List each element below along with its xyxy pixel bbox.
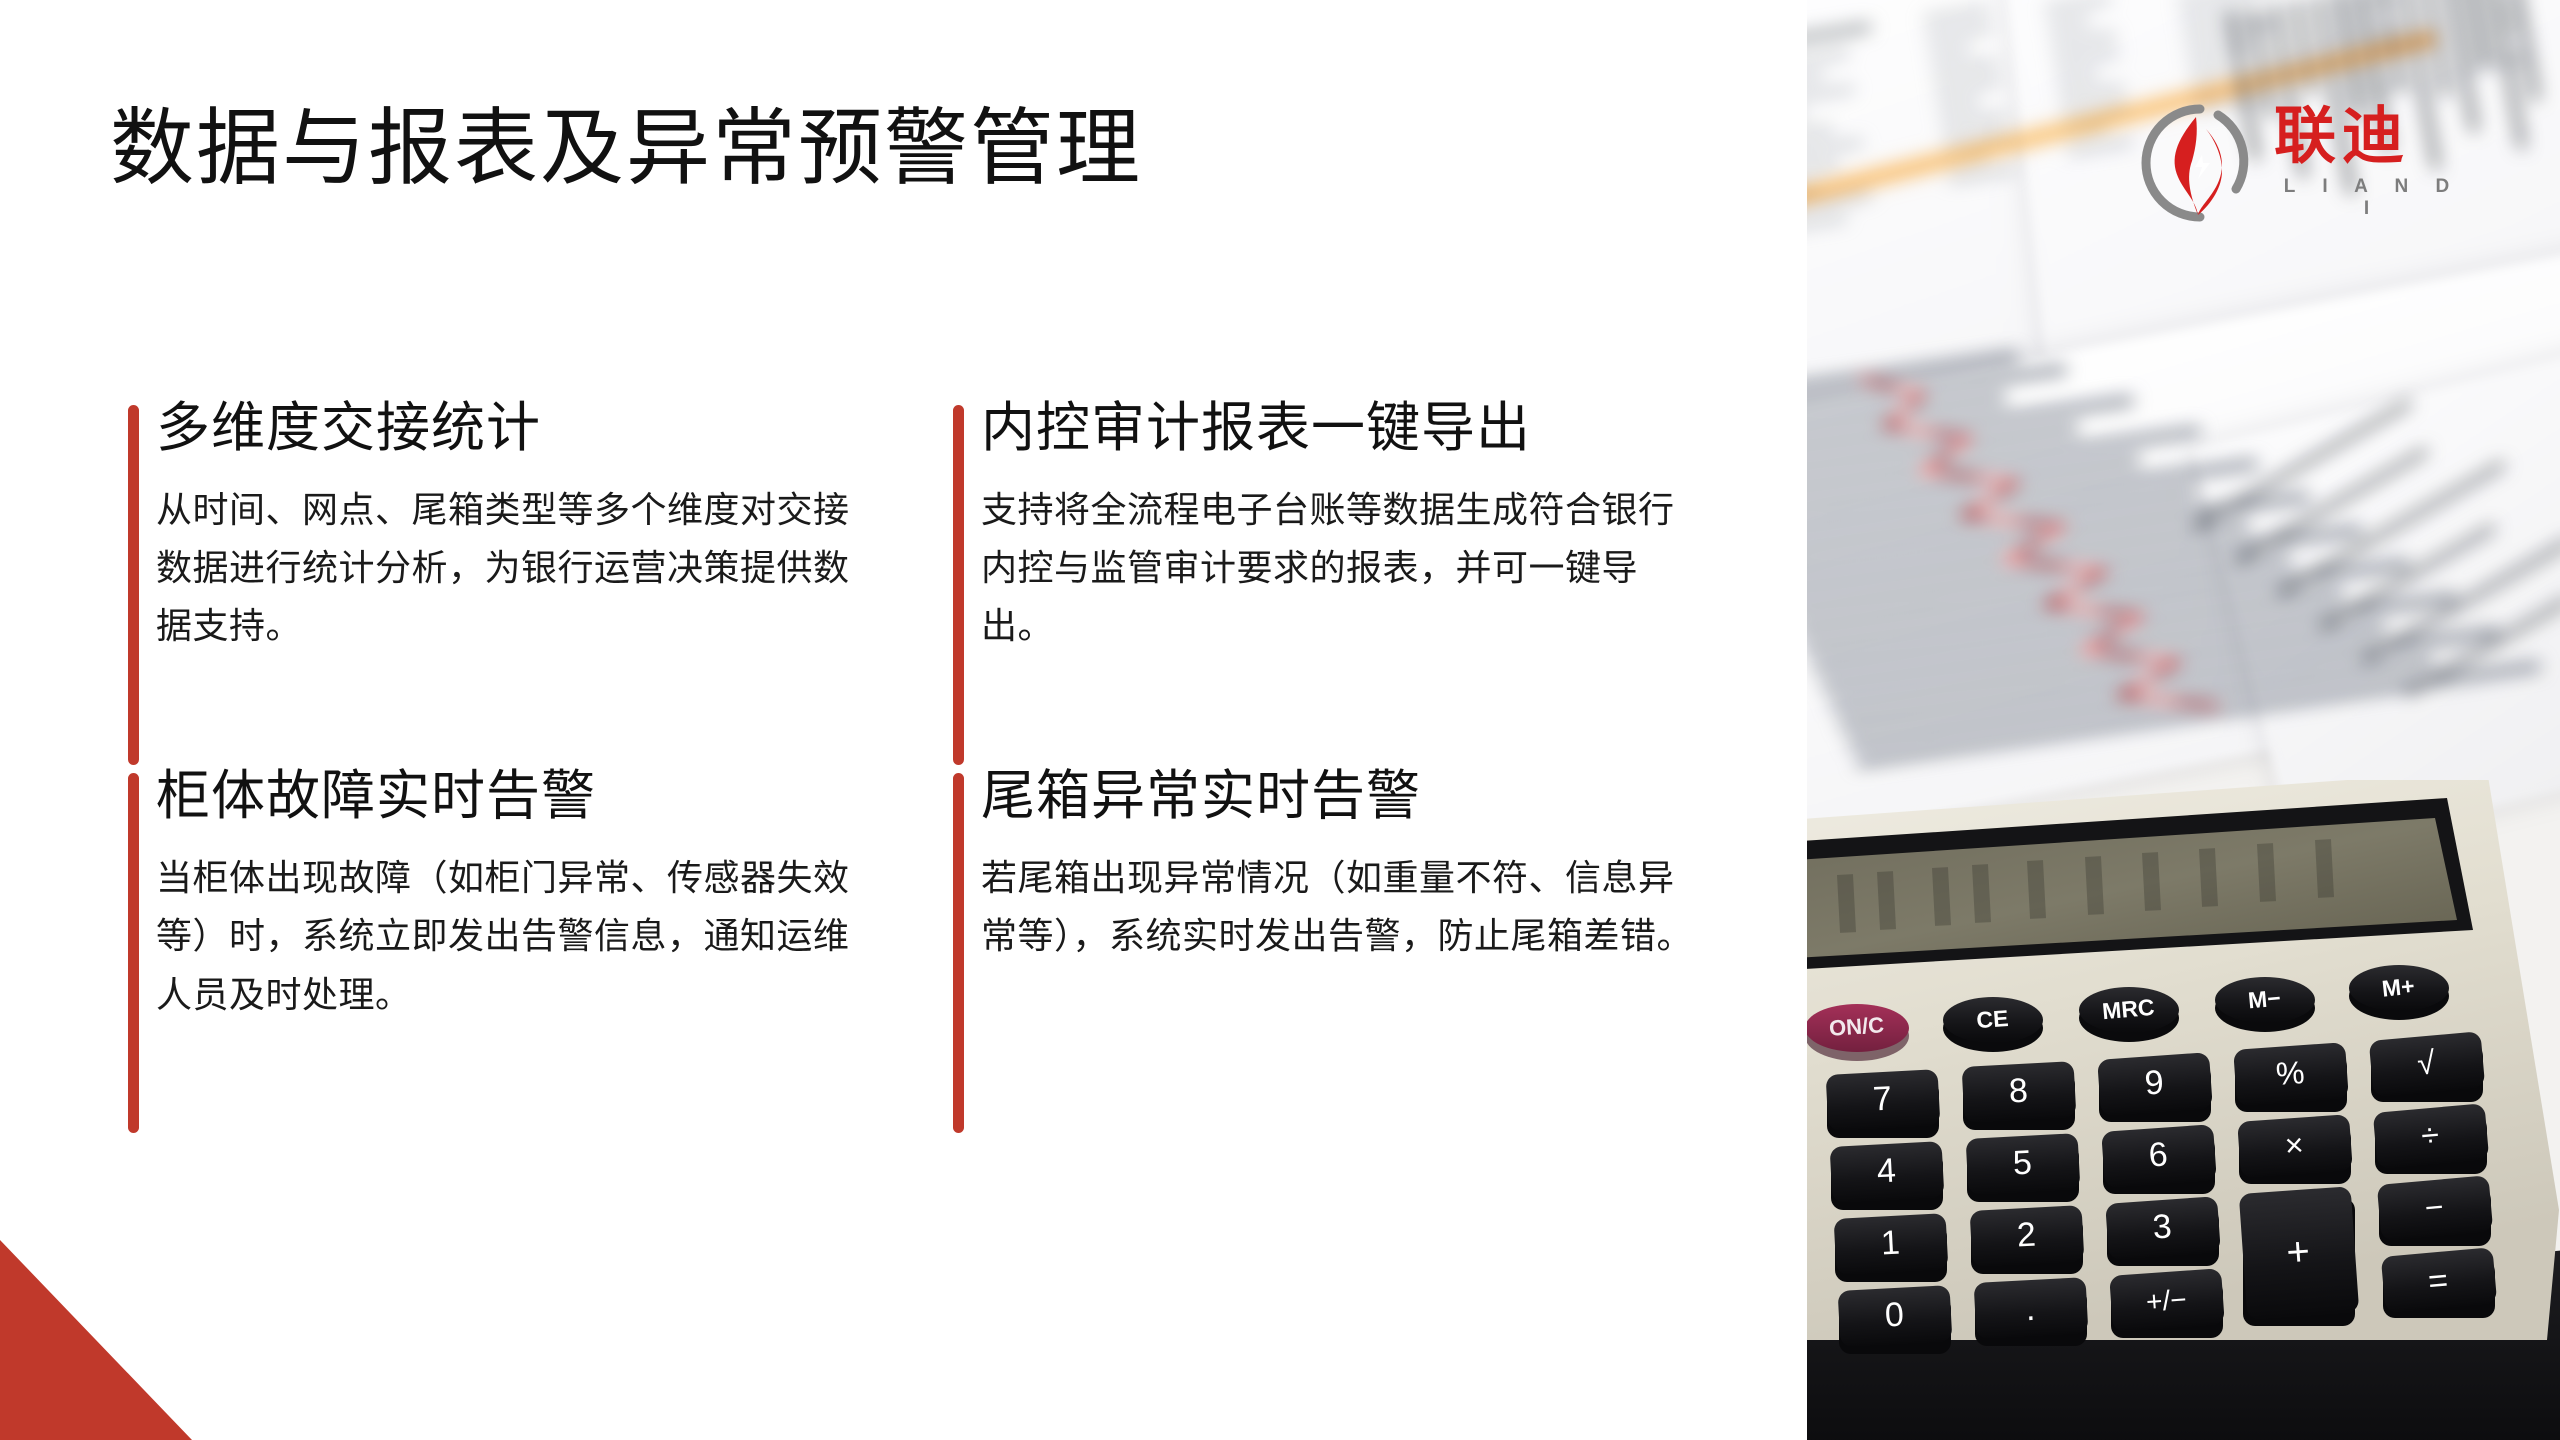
red-line-series <box>1849 325 2263 781</box>
key-on-c[interactable]: ON/C <box>1807 1004 1909 1061</box>
svg-text:MRC: MRC <box>2101 994 2155 1024</box>
svg-text:=: = <box>2426 1261 2449 1301</box>
printed-text-column <box>2045 0 2136 166</box>
brand-logo: 联迪 L I A N D I <box>2140 95 2470 230</box>
svg-text:5: 5 <box>2012 1144 2033 1183</box>
accent-bar-icon <box>953 773 964 1133</box>
card-body: 若尾箱出现异常情况（如重量不符、信息异常等），系统实时发出告警，防止尾箱差错。 <box>981 849 1701 966</box>
key-1[interactable]: 1 <box>1834 1213 1949 1282</box>
logo-name-cn: 联迪 <box>2274 106 2470 168</box>
card-body: 当柜体出现故障（如柜门异常、传感器失效等）时，系统立即发出告警信息，通知运维人员… <box>156 849 876 1024</box>
key-2[interactable]: 2 <box>1970 1205 2085 1274</box>
svg-text:÷: ÷ <box>2420 1116 2441 1153</box>
accent-bar-icon <box>953 405 964 765</box>
key-3[interactable]: 3 <box>2105 1196 2221 1266</box>
svg-text:×: × <box>2284 1126 2305 1163</box>
feature-card-grid: 多维度交接统计 从时间、网点、尾箱类型等多个维度对交接数据进行统计分析，为银行运… <box>110 395 1730 1024</box>
key-9[interactable]: 9 <box>2097 1052 2213 1122</box>
svg-text:√: √ <box>2416 1044 2437 1081</box>
key-multiply[interactable]: × <box>2237 1114 2353 1184</box>
key-ce[interactable]: CE <box>1943 997 2043 1052</box>
svg-text:3: 3 <box>2151 1207 2173 1246</box>
card-heading: 柜体故障实时告警 <box>156 763 905 831</box>
key-mrc[interactable]: MRC <box>2079 987 2179 1042</box>
svg-text:+/−: +/− <box>2145 1284 2188 1318</box>
svg-text:1: 1 <box>1880 1224 1901 1263</box>
feature-card-3[interactable]: 柜体故障实时告警 当柜体出现故障（如柜门异常、传感器失效等）时，系统立即发出告警… <box>110 763 905 1023</box>
card-heading: 内控审计报表一键导出 <box>981 395 1730 463</box>
accent-bar-icon <box>128 773 139 1133</box>
key-memory-minus[interactable]: M− <box>2215 977 2315 1032</box>
svg-text:9: 9 <box>2143 1063 2165 1102</box>
key-decimal-point[interactable]: . <box>1974 1277 2089 1346</box>
svg-text:%: % <box>2275 1054 2306 1092</box>
key-5[interactable]: 5 <box>1966 1133 2081 1202</box>
svg-text:.: . <box>2025 1290 2036 1328</box>
accent-bar-icon <box>128 405 139 765</box>
flame-logo-icon <box>2140 103 2260 223</box>
svg-text:0: 0 <box>1884 1296 1905 1335</box>
slide-root: 数据与报表及异常预警管理 多维度交接统计 从时间、网点、尾箱类型等多个维度对交接… <box>0 0 2560 1440</box>
feature-card-2[interactable]: 内控审计报表一键导出 支持将全流程电子台账等数据生成符合银行内控与监管审计要求的… <box>935 395 1730 655</box>
card-heading: 多维度交接统计 <box>156 395 905 463</box>
key-percent[interactable]: % <box>2233 1042 2349 1112</box>
key-7[interactable]: 7 <box>1826 1069 1941 1138</box>
key-sqrt[interactable]: √ <box>2369 1031 2485 1102</box>
card-heading: 尾箱异常实时告警 <box>981 763 1730 831</box>
key-plus[interactable]: + <box>2239 1186 2360 1326</box>
svg-text:+: + <box>2285 1229 2311 1275</box>
svg-text:M−: M− <box>2247 985 2282 1014</box>
svg-text:ON/C: ON/C <box>1828 1012 1885 1041</box>
page-title: 数据与报表及异常预警管理 <box>110 100 1142 197</box>
logo-wordmark: 联迪 L I A N D I <box>2274 106 2470 220</box>
key-8[interactable]: 8 <box>1962 1061 2077 1130</box>
calculator: ON/C CE MRC M− M+ <box>1807 780 2560 1440</box>
key-6[interactable]: 6 <box>2101 1124 2217 1194</box>
svg-text:7: 7 <box>1872 1080 1893 1119</box>
svg-text:CE: CE <box>1976 1005 2010 1033</box>
key-memory-plus[interactable]: M+ <box>2349 965 2449 1020</box>
key-4[interactable]: 4 <box>1830 1141 1945 1210</box>
card-body: 支持将全流程电子台账等数据生成符合银行内控与监管审计要求的报表，并可一键导出。 <box>981 481 1701 656</box>
svg-text:−: − <box>2423 1188 2445 1225</box>
card-row-bottom: 柜体故障实时告警 当柜体出现故障（如柜门异常、传感器失效等）时，系统立即发出告警… <box>110 763 1730 1023</box>
svg-text:M+: M+ <box>2381 972 2416 1001</box>
svg-text:4: 4 <box>1876 1152 1897 1191</box>
feature-card-4[interactable]: 尾箱异常实时告警 若尾箱出现异常情况（如重量不符、信息异常等），系统实时发出告警… <box>935 763 1730 1023</box>
logo-name-en: L I A N D I <box>2274 176 2470 220</box>
svg-text:2: 2 <box>2016 1216 2037 1255</box>
key-divide[interactable]: ÷ <box>2373 1103 2489 1174</box>
key-equals[interactable]: = <box>2381 1247 2497 1318</box>
corner-triangle-decoration <box>0 1240 192 1440</box>
key-minus[interactable]: − <box>2377 1175 2493 1246</box>
key-0[interactable]: 0 <box>1838 1285 1953 1354</box>
svg-text:8: 8 <box>2008 1072 2029 1111</box>
card-row-top: 多维度交接统计 从时间、网点、尾箱类型等多个维度对交接数据进行统计分析，为银行运… <box>110 395 1730 655</box>
key-sign-toggle[interactable]: +/− <box>2109 1268 2225 1338</box>
card-body: 从时间、网点、尾箱类型等多个维度对交接数据进行统计分析，为银行运营决策提供数据支… <box>156 481 876 656</box>
feature-card-1[interactable]: 多维度交接统计 从时间、网点、尾箱类型等多个维度对交接数据进行统计分析，为银行运… <box>110 395 905 655</box>
svg-text:6: 6 <box>2147 1135 2169 1174</box>
printed-text-column <box>1807 22 1902 242</box>
